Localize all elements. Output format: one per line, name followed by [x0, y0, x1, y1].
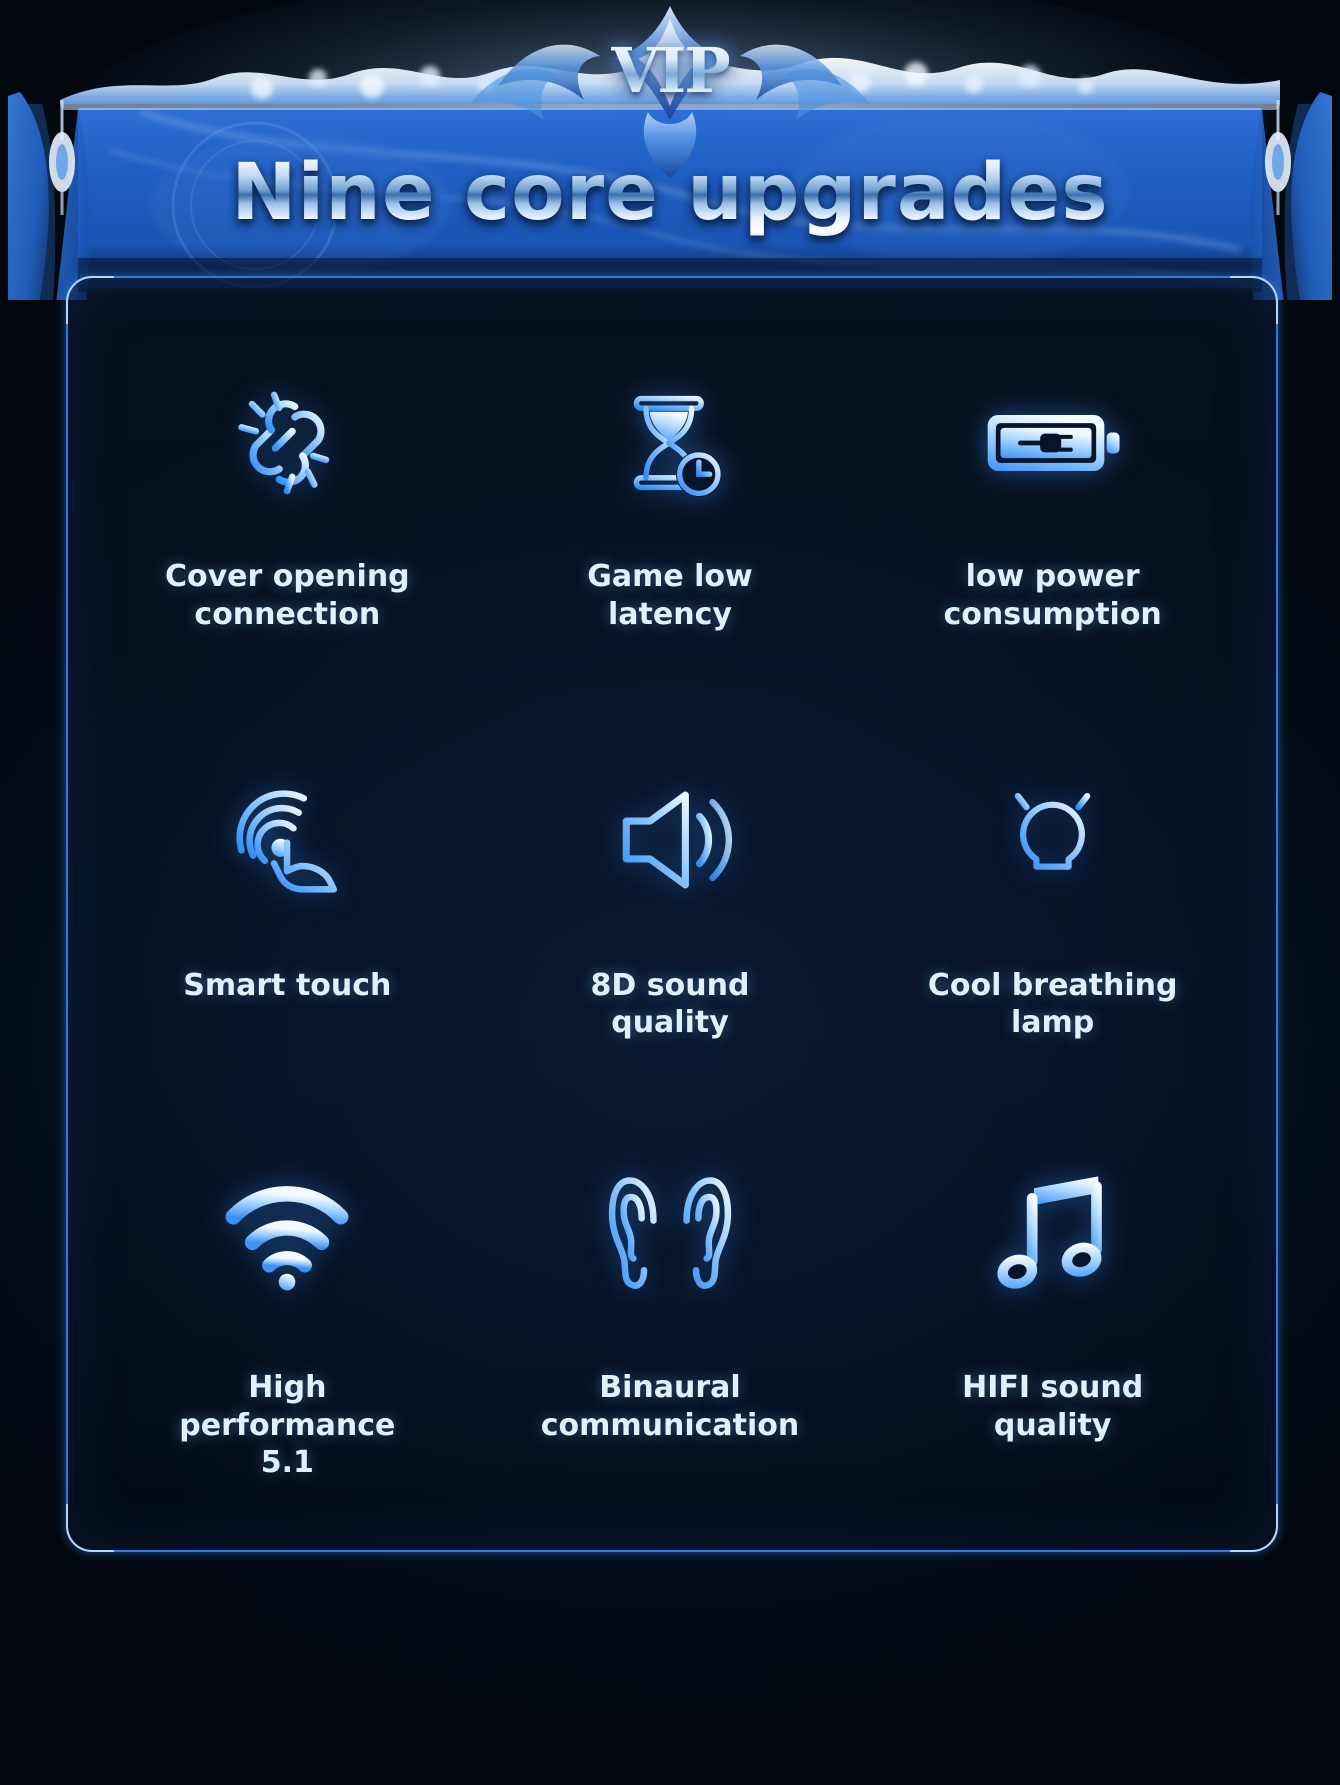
feature-label: Binaural communication	[541, 1369, 800, 1444]
feature-poster: VIP Nine core upgrades Nine core upgrade…	[0, 0, 1340, 1785]
feature-label: High performance 5.1	[147, 1369, 427, 1482]
feature-label: Game low latency	[587, 558, 753, 633]
feature-label: Cool breathing lamp	[928, 967, 1178, 1042]
feature-label: HIFI sound quality	[962, 1369, 1143, 1444]
feature-cell: 8D sound quality	[479, 747, 862, 1144]
speaker-volume-icon	[595, 765, 745, 915]
two-ears-icon	[595, 1161, 745, 1311]
touch-gesture-icon	[212, 765, 362, 915]
feature-label: Smart touch	[183, 967, 391, 1005]
music-note-icon	[978, 1161, 1128, 1311]
feature-label: Cover opening connection	[165, 558, 410, 633]
wifi-signal-icon	[212, 1161, 362, 1311]
feature-cell: High performance 5.1	[96, 1143, 479, 1540]
feature-cell: HIFI sound quality	[861, 1143, 1244, 1540]
feature-grid: Cover opening connection	[96, 350, 1244, 1540]
feature-cell: Cool breathing lamp	[861, 747, 1244, 1144]
feature-cell: Smart touch	[96, 747, 479, 1144]
feature-cell: low power consumption	[861, 350, 1244, 747]
feature-cell: Binaural communication	[479, 1143, 862, 1540]
broken-chain-link-icon	[212, 368, 362, 518]
feature-cell: Game low latency	[479, 350, 862, 747]
feature-label: low power consumption	[944, 558, 1162, 633]
vip-banner: VIP Nine core upgrades Nine core upgrade…	[0, 0, 1340, 300]
battery-plug-icon	[978, 368, 1128, 518]
hourglass-clock-icon	[595, 368, 745, 518]
feature-cell: Cover opening connection	[96, 350, 479, 747]
light-bulb-icon	[978, 765, 1128, 915]
feature-label: 8D sound quality	[591, 967, 750, 1042]
